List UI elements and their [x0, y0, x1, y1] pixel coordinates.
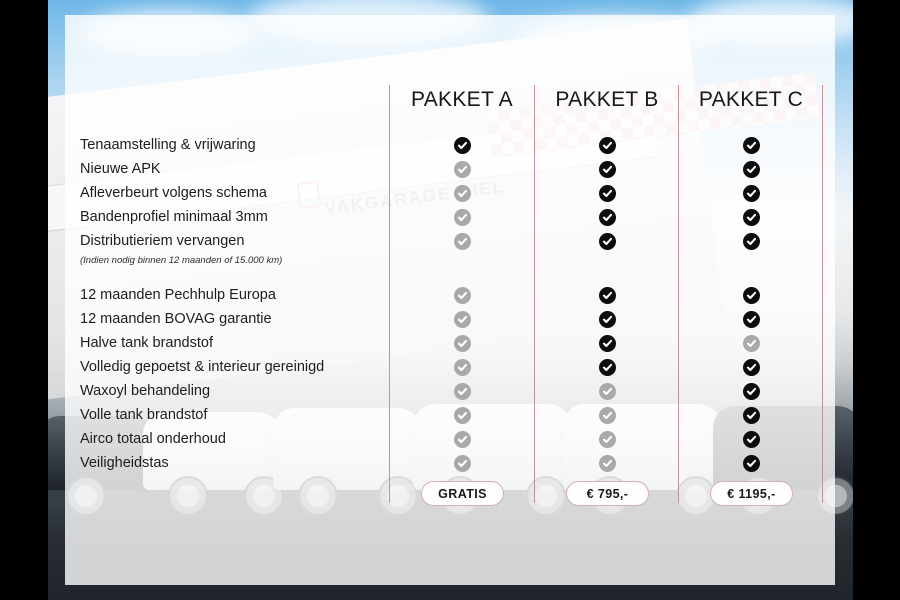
check-cell: [534, 451, 680, 475]
check-included-icon: [743, 137, 760, 154]
check-cell: [534, 229, 680, 253]
check-cell: [389, 181, 535, 205]
check-excluded-icon: [599, 431, 616, 448]
feature-label: Volle tank brandstof: [80, 403, 380, 427]
check-included-icon: [743, 383, 760, 400]
feature-label: Tenaamstelling & vrijwaring: [80, 133, 380, 157]
check-excluded-icon: [454, 161, 471, 178]
feature-label: Bandenprofiel minimaal 3mm: [80, 205, 380, 229]
check-cell: [534, 133, 680, 157]
check-excluded-icon: [743, 335, 760, 352]
check-included-icon: [743, 209, 760, 226]
check-included-icon: [599, 233, 616, 250]
check-excluded-icon: [454, 407, 471, 424]
check-cell: [389, 133, 535, 157]
check-cell: [534, 157, 680, 181]
check-cell: [534, 307, 680, 331]
check-excluded-icon: [599, 407, 616, 424]
check-cell: [389, 451, 535, 475]
check-cell: [389, 205, 535, 229]
check-cell: [389, 157, 535, 181]
check-included-icon: [599, 335, 616, 352]
screenshot-stage: VAKGARAGE GIEL PAKKET A PAKKET B PAKKET …: [0, 0, 900, 600]
check-cell: [389, 427, 535, 451]
group-spacer: [80, 270, 380, 283]
check-included-icon: [599, 287, 616, 304]
check-column-pakket-c: [678, 133, 824, 475]
check-cell: [534, 403, 680, 427]
feature-label: Waxoyl behandeling: [80, 379, 380, 403]
check-column-pakket-b: [534, 133, 680, 475]
subnote-gap: [678, 253, 824, 270]
check-cell: [678, 157, 824, 181]
feature-label: Distributieriem vervangen: [80, 229, 380, 253]
check-cell: [389, 283, 535, 307]
check-excluded-icon: [454, 335, 471, 352]
check-included-icon: [743, 161, 760, 178]
check-cell: [678, 331, 824, 355]
check-included-icon: [743, 233, 760, 250]
check-included-icon: [599, 137, 616, 154]
check-cell: [678, 283, 824, 307]
check-excluded-icon: [454, 359, 471, 376]
check-cell: [678, 451, 824, 475]
check-included-icon: [743, 455, 760, 472]
price-button-pakket-b[interactable]: € 795,-: [566, 481, 649, 506]
feature-label: Volledig gepoetst & interieur gereinigd: [80, 355, 380, 379]
check-cell: [678, 229, 824, 253]
check-included-icon: [599, 185, 616, 202]
letterbox-bar-right: [853, 0, 900, 600]
check-excluded-icon: [454, 233, 471, 250]
feature-label: Halve tank brandstof: [80, 331, 380, 355]
check-included-icon: [743, 431, 760, 448]
check-cell: [389, 229, 535, 253]
feature-label: Airco totaal onderhoud: [80, 427, 380, 451]
check-included-icon: [743, 185, 760, 202]
feature-label-list: Tenaamstelling & vrijwaring Nieuwe APK A…: [80, 133, 380, 475]
group-gap: [534, 270, 680, 283]
check-excluded-icon: [454, 431, 471, 448]
check-excluded-icon: [454, 311, 471, 328]
check-cell: [534, 379, 680, 403]
check-excluded-icon: [599, 455, 616, 472]
check-included-icon: [743, 407, 760, 424]
check-included-icon: [599, 311, 616, 328]
check-cell: [389, 403, 535, 427]
price-button-pakket-a[interactable]: GRATIS: [421, 481, 504, 506]
check-excluded-icon: [454, 383, 471, 400]
check-cell: [678, 181, 824, 205]
check-excluded-icon: [454, 287, 471, 304]
column-header-pakket-a: PAKKET A: [389, 88, 535, 112]
feature-label: Veiligheidstas: [80, 451, 380, 475]
check-included-icon: [743, 287, 760, 304]
check-cell: [389, 379, 535, 403]
price-button-pakket-c[interactable]: € 1195,-: [710, 481, 793, 506]
check-column-pakket-a: [389, 133, 535, 475]
check-cell: [389, 355, 535, 379]
group-gap: [678, 270, 824, 283]
check-cell: [534, 427, 680, 451]
check-included-icon: [599, 161, 616, 178]
feature-label: 12 maanden BOVAG garantie: [80, 307, 380, 331]
check-cell: [678, 205, 824, 229]
check-cell: [534, 205, 680, 229]
check-cell: [678, 379, 824, 403]
check-excluded-icon: [454, 185, 471, 202]
check-cell: [678, 427, 824, 451]
check-included-icon: [743, 359, 760, 376]
check-cell: [678, 403, 824, 427]
feature-label: 12 maanden Pechhulp Europa: [80, 283, 380, 307]
check-included-icon: [599, 359, 616, 376]
check-cell: [534, 181, 680, 205]
feature-label: Afleverbeurt volgens schema: [80, 181, 380, 205]
check-excluded-icon: [599, 383, 616, 400]
check-included-icon: [743, 311, 760, 328]
check-cell: [389, 331, 535, 355]
letterbox-bar-left: [0, 0, 48, 600]
check-cell: [678, 307, 824, 331]
subnote-gap: [389, 253, 535, 270]
feature-subnote: (Indien nodig binnen 12 maanden of 15.00…: [80, 253, 380, 270]
check-cell: [534, 355, 680, 379]
column-header-pakket-c: PAKKET C: [678, 88, 824, 112]
check-excluded-icon: [454, 455, 471, 472]
column-header-pakket-b: PAKKET B: [534, 88, 680, 112]
check-cell: [534, 331, 680, 355]
group-gap: [389, 270, 535, 283]
check-cell: [678, 133, 824, 157]
check-excluded-icon: [454, 209, 471, 226]
check-included-icon: [454, 137, 471, 154]
check-cell: [678, 355, 824, 379]
check-included-icon: [599, 209, 616, 226]
subnote-gap: [534, 253, 680, 270]
feature-label: Nieuwe APK: [80, 157, 380, 181]
check-cell: [389, 307, 535, 331]
check-cell: [534, 283, 680, 307]
